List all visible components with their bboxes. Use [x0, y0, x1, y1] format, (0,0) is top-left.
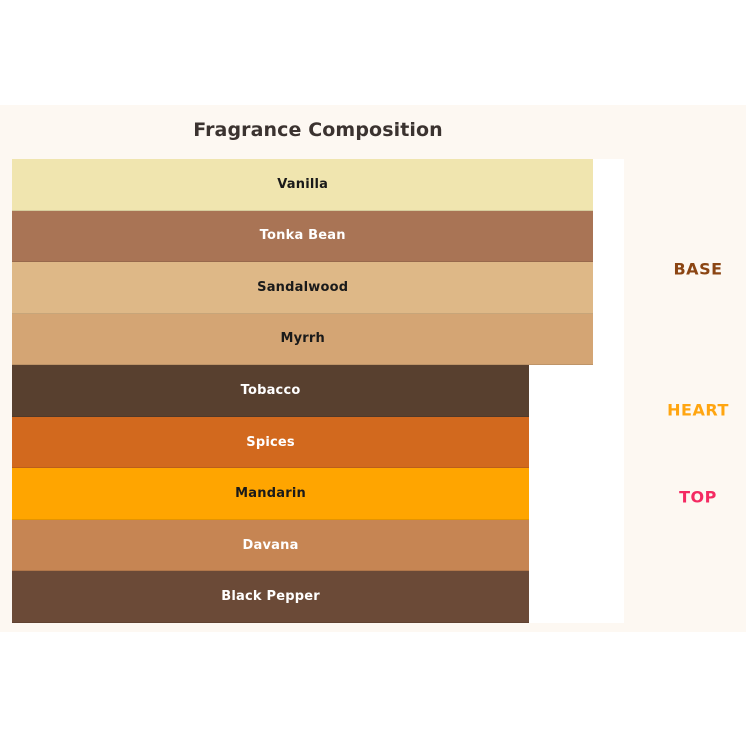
- bar-row: Vanilla: [12, 159, 624, 211]
- bar-label: Vanilla: [277, 177, 328, 192]
- bar-label: Myrrh: [280, 331, 325, 346]
- bar-myrrh[interactable]: Myrrh: [12, 314, 593, 366]
- bar-row: Tonka Bean: [12, 211, 624, 263]
- group-label-top: TOP: [679, 487, 717, 506]
- bar-tonka-bean[interactable]: Tonka Bean: [12, 211, 593, 263]
- chart-figure: Fragrance Composition VanillaTonka BeanS…: [0, 105, 746, 632]
- bar-black-pepper[interactable]: Black Pepper: [12, 571, 529, 623]
- bar-sandalwood[interactable]: Sandalwood: [12, 262, 593, 314]
- bar-tobacco[interactable]: Tobacco: [12, 365, 529, 417]
- bar-label: Tonka Bean: [260, 228, 346, 243]
- page-title: Fragrance Composition: [0, 119, 636, 141]
- bar-row: Spices: [12, 417, 624, 469]
- bar-label: Tobacco: [241, 383, 301, 398]
- bar-label: Sandalwood: [257, 280, 348, 295]
- bar-mandarin[interactable]: Mandarin: [12, 468, 529, 520]
- bar-davana[interactable]: Davana: [12, 520, 529, 572]
- bar-label: Mandarin: [235, 486, 306, 501]
- plot-area: VanillaTonka BeanSandalwoodMyrrhTobaccoS…: [12, 159, 624, 623]
- bar-label: Spices: [246, 435, 295, 450]
- bar-row: Davana: [12, 520, 624, 572]
- bar-row: Black Pepper: [12, 571, 624, 623]
- bar-row: Sandalwood: [12, 262, 624, 314]
- bar-vanilla[interactable]: Vanilla: [12, 159, 593, 211]
- bar-label: Black Pepper: [221, 589, 320, 604]
- bar-label: Davana: [243, 538, 299, 553]
- group-label-base: BASE: [673, 260, 722, 279]
- bar-row: Tobacco: [12, 365, 624, 417]
- group-label-heart: HEART: [667, 401, 729, 420]
- bar-row: Mandarin: [12, 468, 624, 520]
- bar-row: Myrrh: [12, 314, 624, 366]
- bar-spices[interactable]: Spices: [12, 417, 529, 469]
